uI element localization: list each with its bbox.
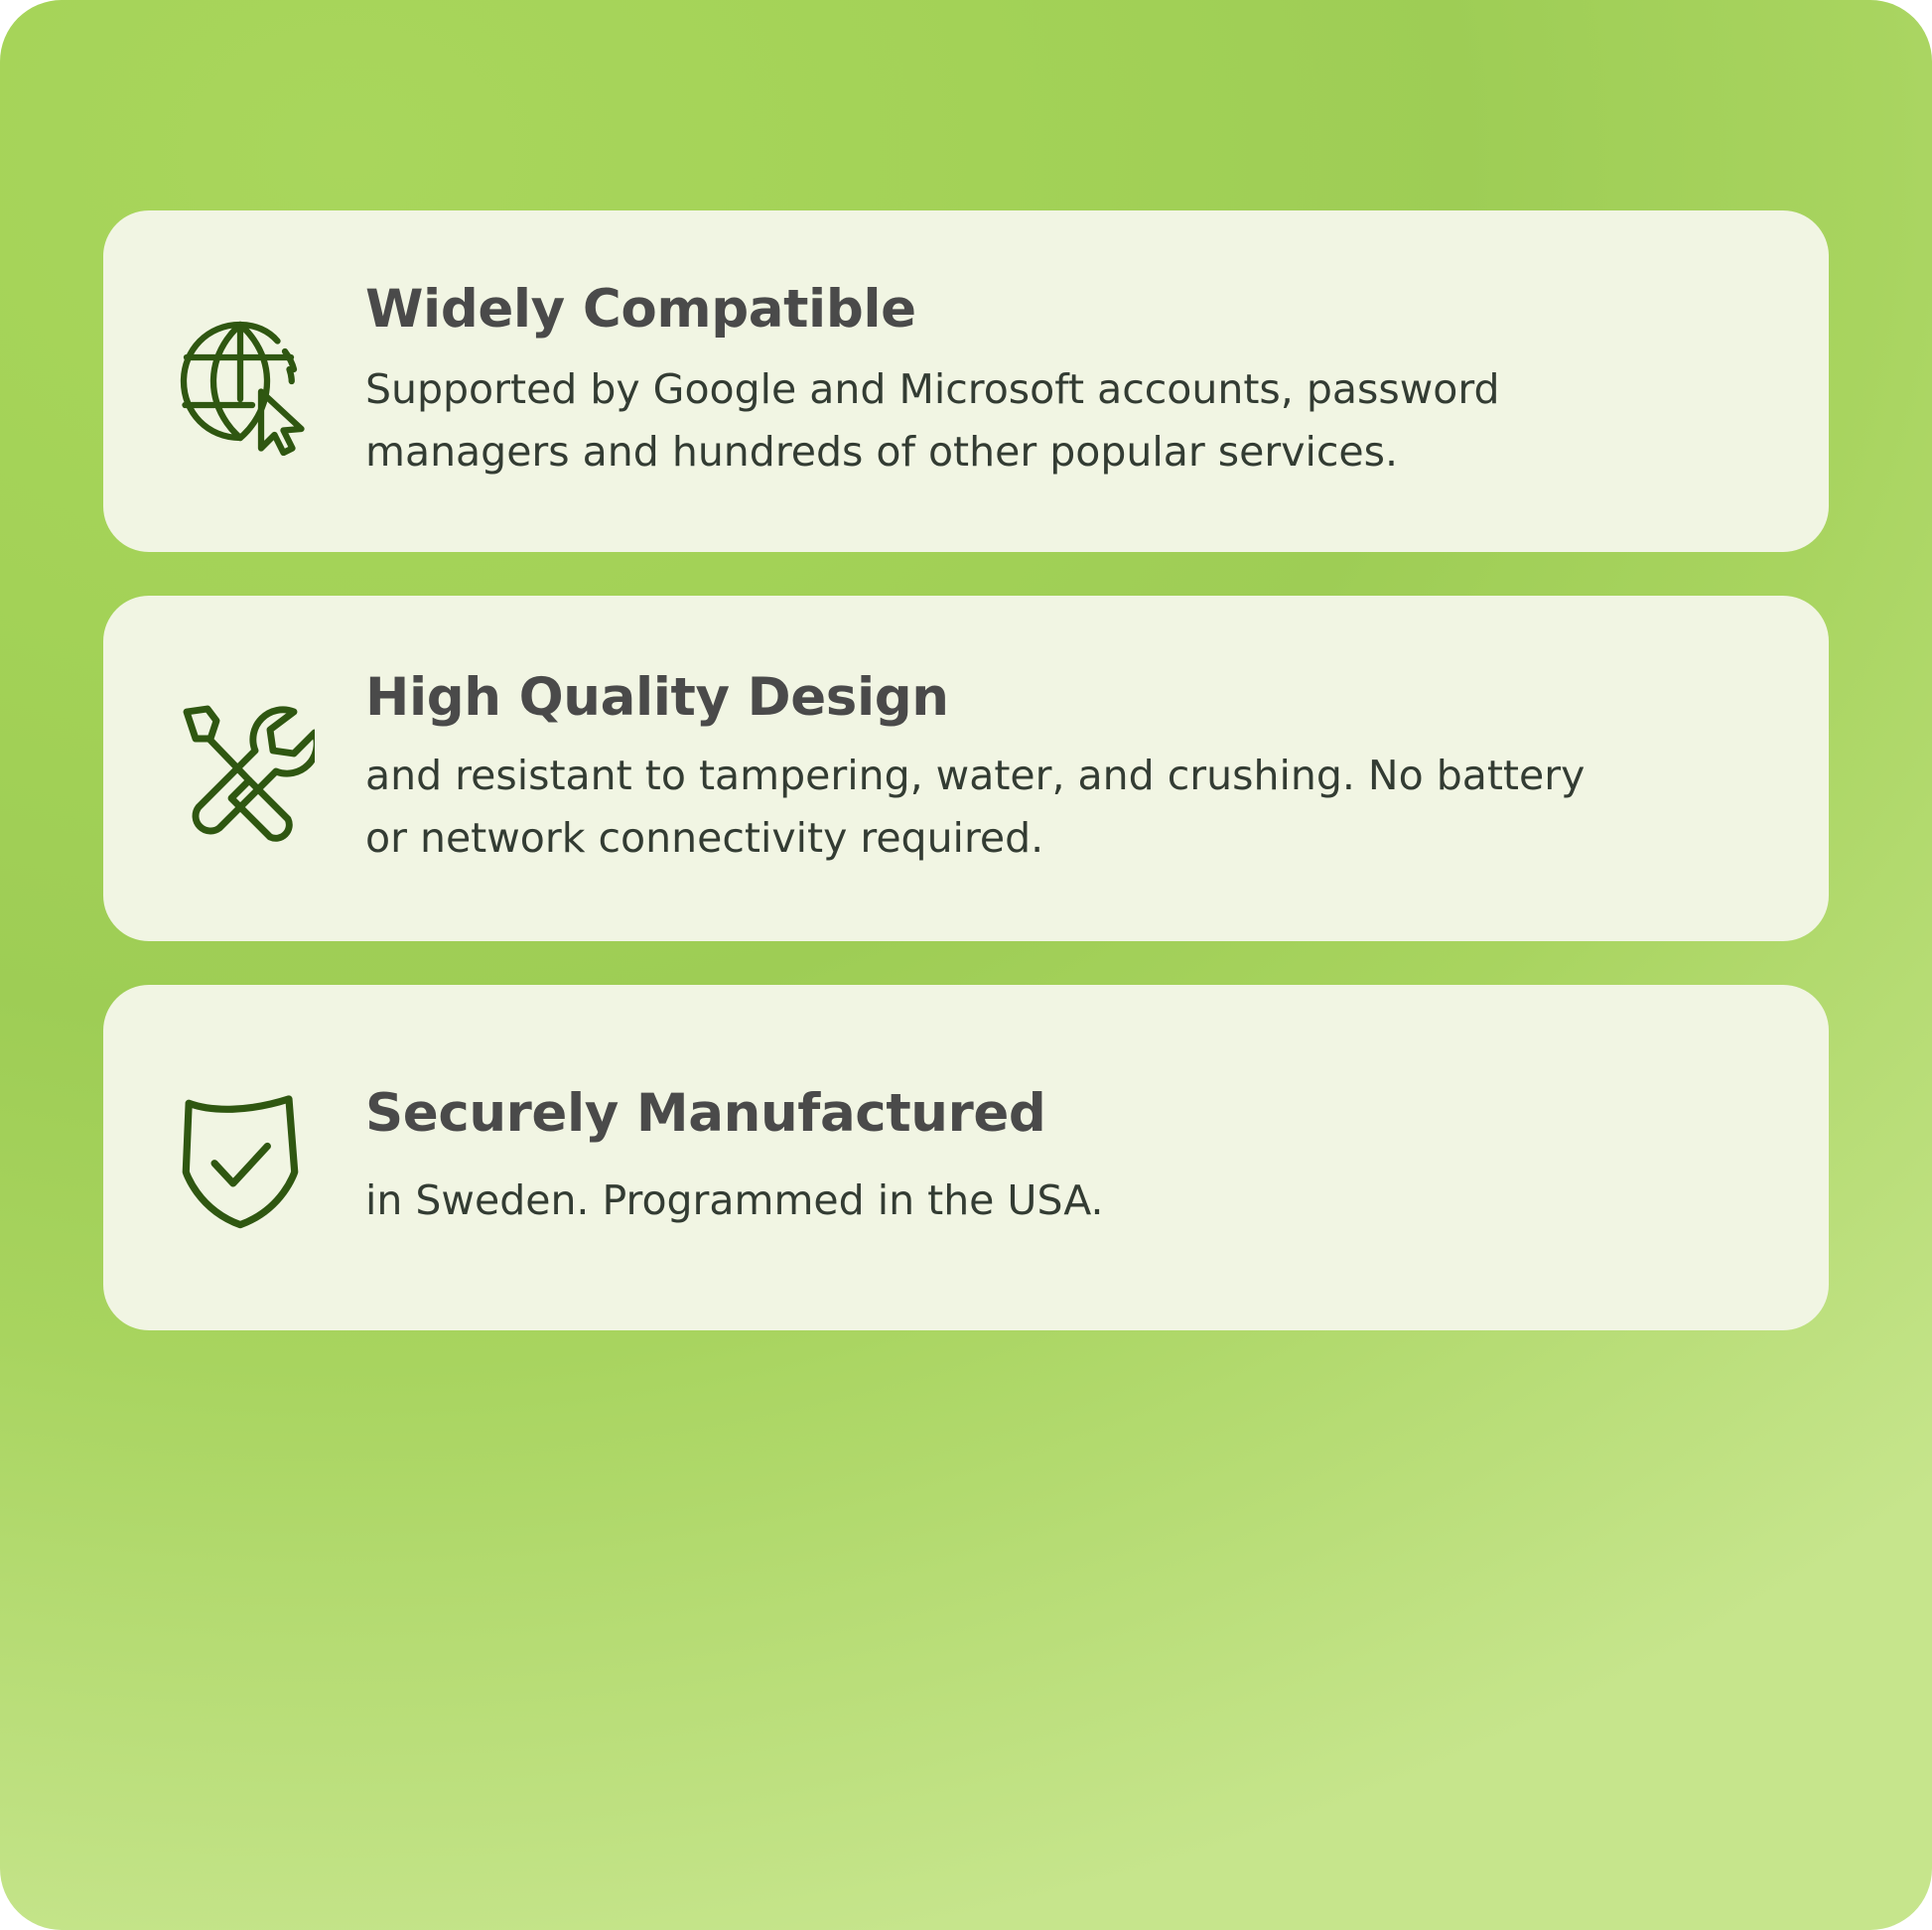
feature-card-list: Widely Compatible Supported by Google an… [103,210,1829,1330]
card-title: Widely Compatible [365,280,1733,339]
feature-card-high-quality-design: High Quality Design and resistant to tam… [103,596,1829,941]
card-body: and resistant to tampering, water, and c… [365,745,1596,869]
feature-card-text: Securely Manufactured in Sweden. Program… [365,1084,1829,1231]
feature-panel: Widely Compatible Supported by Google an… [0,0,1932,1930]
card-title: High Quality Design [365,668,1733,727]
wrench-screwdriver-icon [103,694,365,843]
card-title: Securely Manufactured [365,1084,1733,1143]
feature-card-widely-compatible: Widely Compatible Supported by Google an… [103,210,1829,552]
card-body: Supported by Google and Microsoft accoun… [365,358,1596,482]
feature-card-text: Widely Compatible Supported by Google an… [365,280,1829,482]
globe-cursor-icon [103,307,365,456]
feature-card-securely-manufactured: Securely Manufactured in Sweden. Program… [103,985,1829,1330]
feature-card-text: High Quality Design and resistant to tam… [365,668,1829,869]
card-body: in Sweden. Programmed in the USA. [365,1170,1596,1231]
shield-check-icon [103,1083,365,1232]
